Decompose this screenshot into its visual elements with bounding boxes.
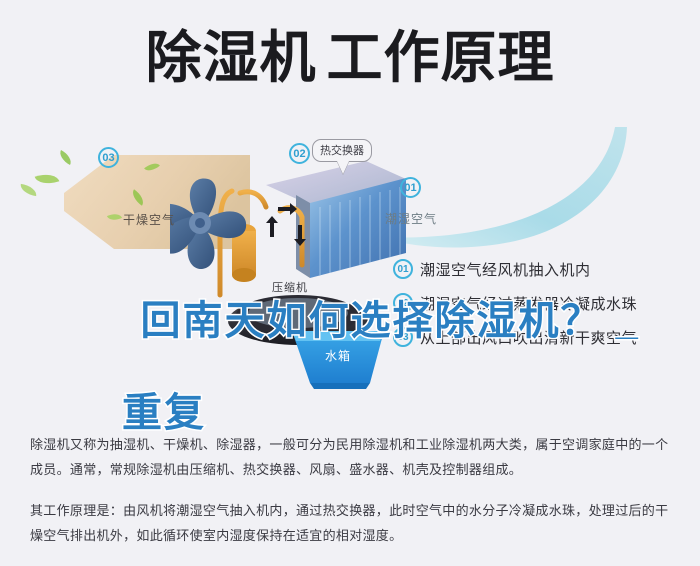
dehumidifier-cutaway-illustration — [170, 145, 430, 395]
dehumidifier-diagram: 03 02 01 热交换器 干燥空气 潮湿空气 压缩机 水箱 01 潮湿空气经风… — [0, 125, 700, 405]
legend-badge-02: 02 — [393, 293, 413, 313]
legend-badge-01: 01 — [393, 259, 413, 279]
heat-exchanger-callout: 热交换器 — [312, 139, 372, 162]
badge-03: 03 — [98, 147, 119, 168]
title-main-text: 除湿机 — [146, 30, 317, 86]
legend-text-03: 从上部出风口吹出清新干爽空气 — [420, 327, 637, 348]
label-compressor: 压缩机 — [272, 279, 308, 295]
legend-text-02: 潮湿空气经过蒸发器冷凝成水珠 — [420, 293, 637, 314]
title-sub-text: 工作原理 — [327, 30, 555, 86]
body-paragraph-2: 其工作原理是：由风机将潮湿空气抽入机内，通过热交换器，此时空气中的水分子冷凝成水… — [30, 498, 672, 548]
page-root: 除湿机工作原理 — [0, 0, 700, 566]
legend-item-01: 01 潮湿空气经风机抽入机内 — [393, 252, 693, 286]
page-title: 除湿机工作原理 — [0, 30, 700, 86]
legend-badge-03: 03 — [393, 327, 413, 347]
label-humid-air: 潮湿空气 — [385, 210, 437, 227]
leaf-icon — [35, 170, 60, 188]
body-paragraph-1: 除湿机又称为抽湿机、干燥机、除湿器，一般可分为民用除湿机和工业除湿机两大类，属于… — [30, 432, 672, 482]
legend-item-02: 02 潮湿空气经过蒸发器冷凝成水珠 — [393, 286, 693, 320]
badge-01: 01 — [400, 177, 421, 198]
legend-text-01: 潮湿空气经风机抽入机内 — [420, 259, 591, 280]
badge-02: 02 — [289, 143, 310, 164]
leaf-icon — [19, 184, 37, 196]
diagram-legend: 01 潮湿空气经风机抽入机内 02 潮湿空气经过蒸发器冷凝成水珠 03 从上部出… — [393, 252, 693, 354]
legend-item-03: 03 从上部出风口吹出清新干爽空气 — [393, 320, 693, 354]
label-dry-air: 干燥空气 — [123, 211, 175, 228]
label-water-tank: 水箱 — [325, 347, 351, 364]
